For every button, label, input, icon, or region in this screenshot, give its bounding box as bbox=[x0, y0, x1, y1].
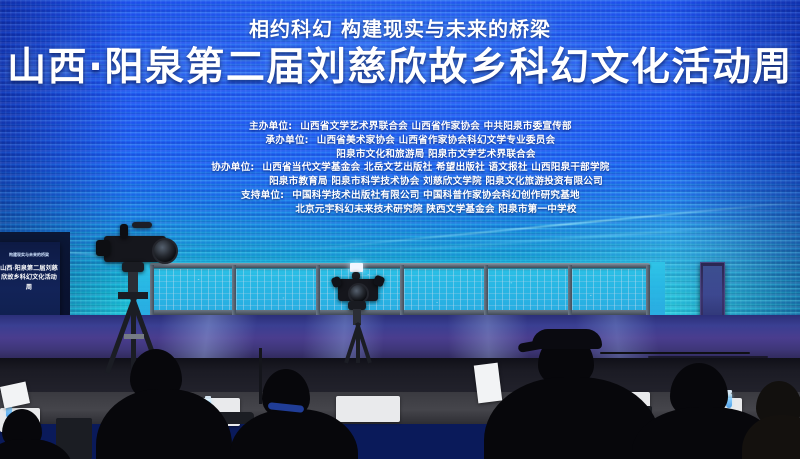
audience-person bbox=[100, 349, 230, 459]
audience-person-with-cap bbox=[498, 333, 648, 459]
stage-railing bbox=[150, 263, 650, 315]
railing-post bbox=[232, 265, 236, 315]
railing-post bbox=[400, 265, 404, 315]
person-shoulders bbox=[0, 439, 72, 459]
broadcast-camera-left bbox=[96, 222, 180, 364]
railing-post bbox=[568, 265, 572, 315]
camera-viewfinder bbox=[96, 240, 110, 256]
camcorder-center bbox=[330, 263, 394, 363]
camera-mic-mount bbox=[120, 224, 128, 238]
tripod-spreader bbox=[124, 334, 144, 339]
railing-post bbox=[316, 265, 320, 315]
railing-post bbox=[484, 265, 488, 315]
person-shoulders bbox=[230, 409, 358, 459]
screenshot-root: 相约科幻 构建现实与未来的桥梁 山西·阳泉第二届刘慈欣故乡科幻文化活动周 主办单… bbox=[0, 0, 800, 459]
audience-person bbox=[0, 397, 70, 459]
camera-head-mount bbox=[122, 262, 144, 272]
camera-top-handle bbox=[132, 222, 152, 228]
banner-subtitle: 构建现实与未来的桥梁 bbox=[2, 252, 56, 258]
tripod-leg bbox=[356, 323, 360, 363]
audience-person bbox=[752, 373, 800, 459]
camera-lens bbox=[152, 238, 178, 264]
person-shoulders bbox=[96, 389, 232, 459]
banner-title: 山西·阳泉第二届刘慈欣故乡科幻文化活动周 bbox=[0, 264, 58, 292]
camera-led-light bbox=[350, 263, 363, 272]
railing-post bbox=[646, 265, 650, 315]
